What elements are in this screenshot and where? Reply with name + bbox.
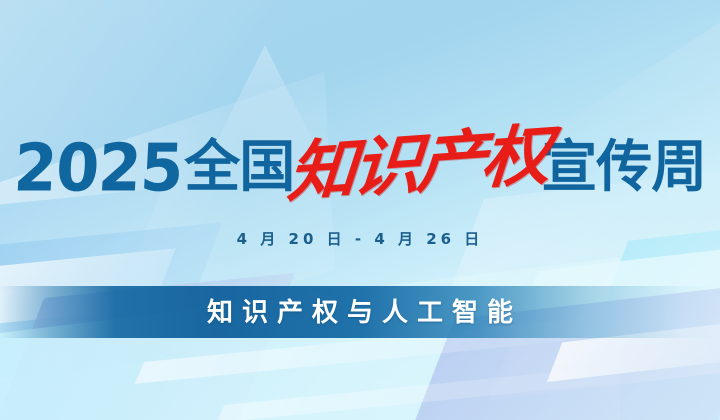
bg-shape-sweep-bottom [0,257,620,420]
date-range: 4 月 20 日 - 4 月 26 日 [0,228,720,249]
promo-poster: 2025 全国 知识产权 宣传周 4 月 20 日 - 4 月 26 日 知识产… [0,0,720,420]
bg-shape-streak-2 [217,365,624,420]
background-decoration [0,0,720,420]
poster-headline: 2025 全国 知识产权 宣传周 [0,128,720,208]
headline-suffix-week: 宣传周 [541,140,706,196]
theme-slogan: 知识产权与人工智能 [0,292,720,329]
headline-year: 2025 [12,135,184,201]
headline-highlight-ip: 知识产权 [286,123,549,207]
headline-scope: 全国 [184,140,294,196]
